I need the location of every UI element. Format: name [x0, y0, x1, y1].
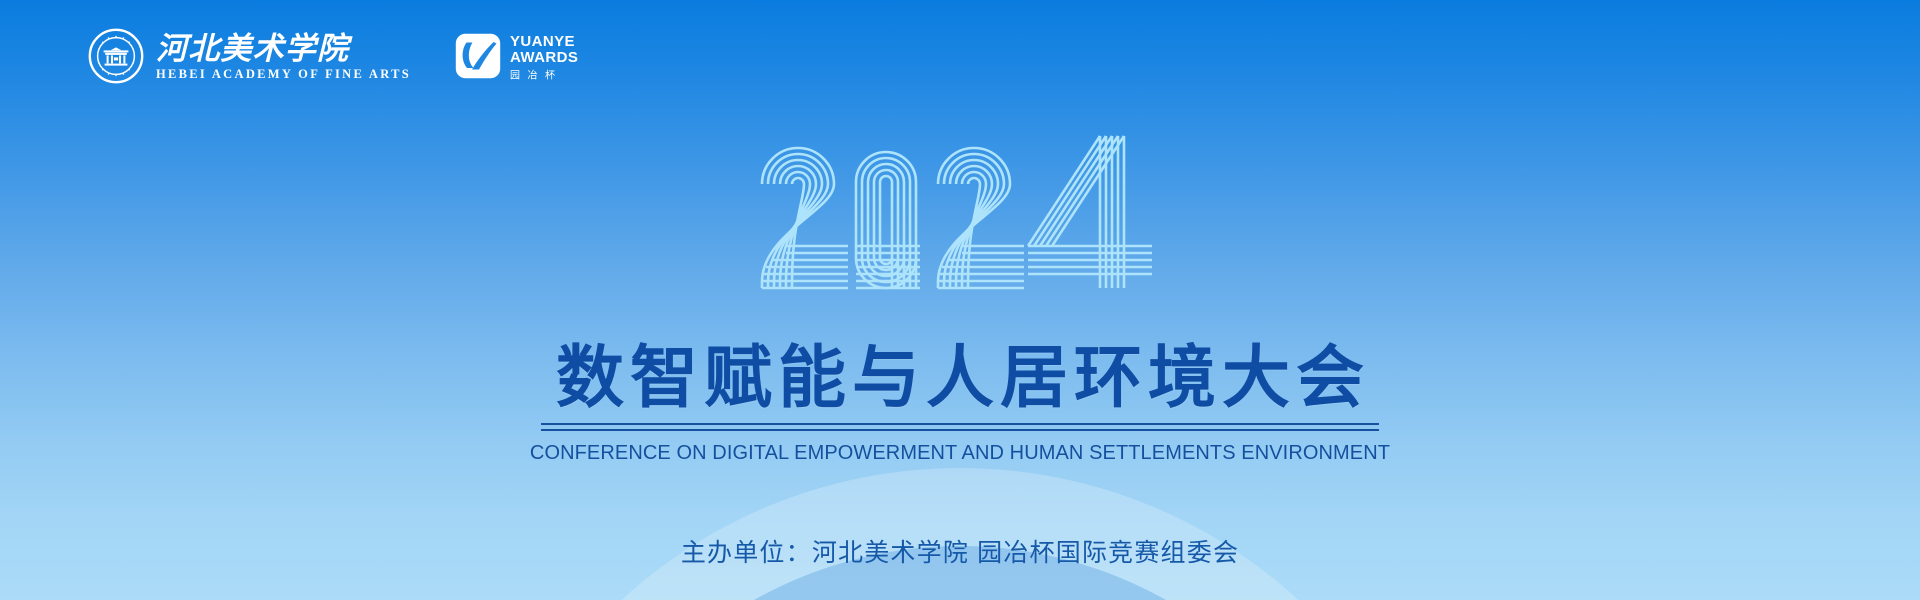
yuanye-line2: AWARDS [510, 50, 578, 65]
background-arc-decoration [0, 0, 1920, 600]
hebei-seal-icon [88, 28, 144, 84]
divider-line-top [541, 423, 1379, 425]
conference-banner: 河北美术学院 HEBEI ACADEMY OF FINE ARTS YUANYE… [0, 0, 1920, 600]
hebei-academy-logo: 河北美术学院 HEBEI ACADEMY OF FINE ARTS [88, 28, 411, 84]
divider-line-bottom [541, 429, 1379, 431]
year-2024-artwork [752, 122, 1172, 294]
yuanye-name-cn: 园冶杯 [510, 68, 566, 79]
organizer-line: 主办单位：河北美术学院 园冶杯国际竞赛组委会 [0, 533, 1920, 569]
yuanye-wordmark: YUANYE AWARDS 园冶杯 [510, 34, 578, 79]
svg-text:园冶杯: 园冶杯 [510, 69, 563, 80]
conference-title-en: CONFERENCE ON DIGITAL EMPOWERMENT AND HU… [24, 441, 1896, 465]
logo-row: 河北美术学院 HEBEI ACADEMY OF FINE ARTS YUANYE… [88, 28, 578, 84]
yuanye-awards-logo: YUANYE AWARDS 园冶杯 [455, 33, 578, 79]
svg-text:河北美术学院: 河北美术学院 [156, 32, 353, 66]
title-block: 数智赋能与人居环境大会 CONFERENCE ON DIGITAL EMPOWE… [0, 342, 1920, 465]
yuanye-mark-icon [455, 33, 501, 79]
title-divider [541, 423, 1379, 431]
hebei-name-en: HEBEI ACADEMY OF FINE ARTS [156, 68, 411, 81]
yuanye-line1: YUANYE [510, 34, 578, 49]
hebei-academy-wordmark: 河北美术学院 HEBEI ACADEMY OF FINE ARTS [156, 32, 411, 81]
hebei-name-cn-calligraphy: 河北美术学院 [156, 32, 356, 66]
conference-title-cn: 数智赋能与人居环境大会 [0, 342, 1920, 414]
